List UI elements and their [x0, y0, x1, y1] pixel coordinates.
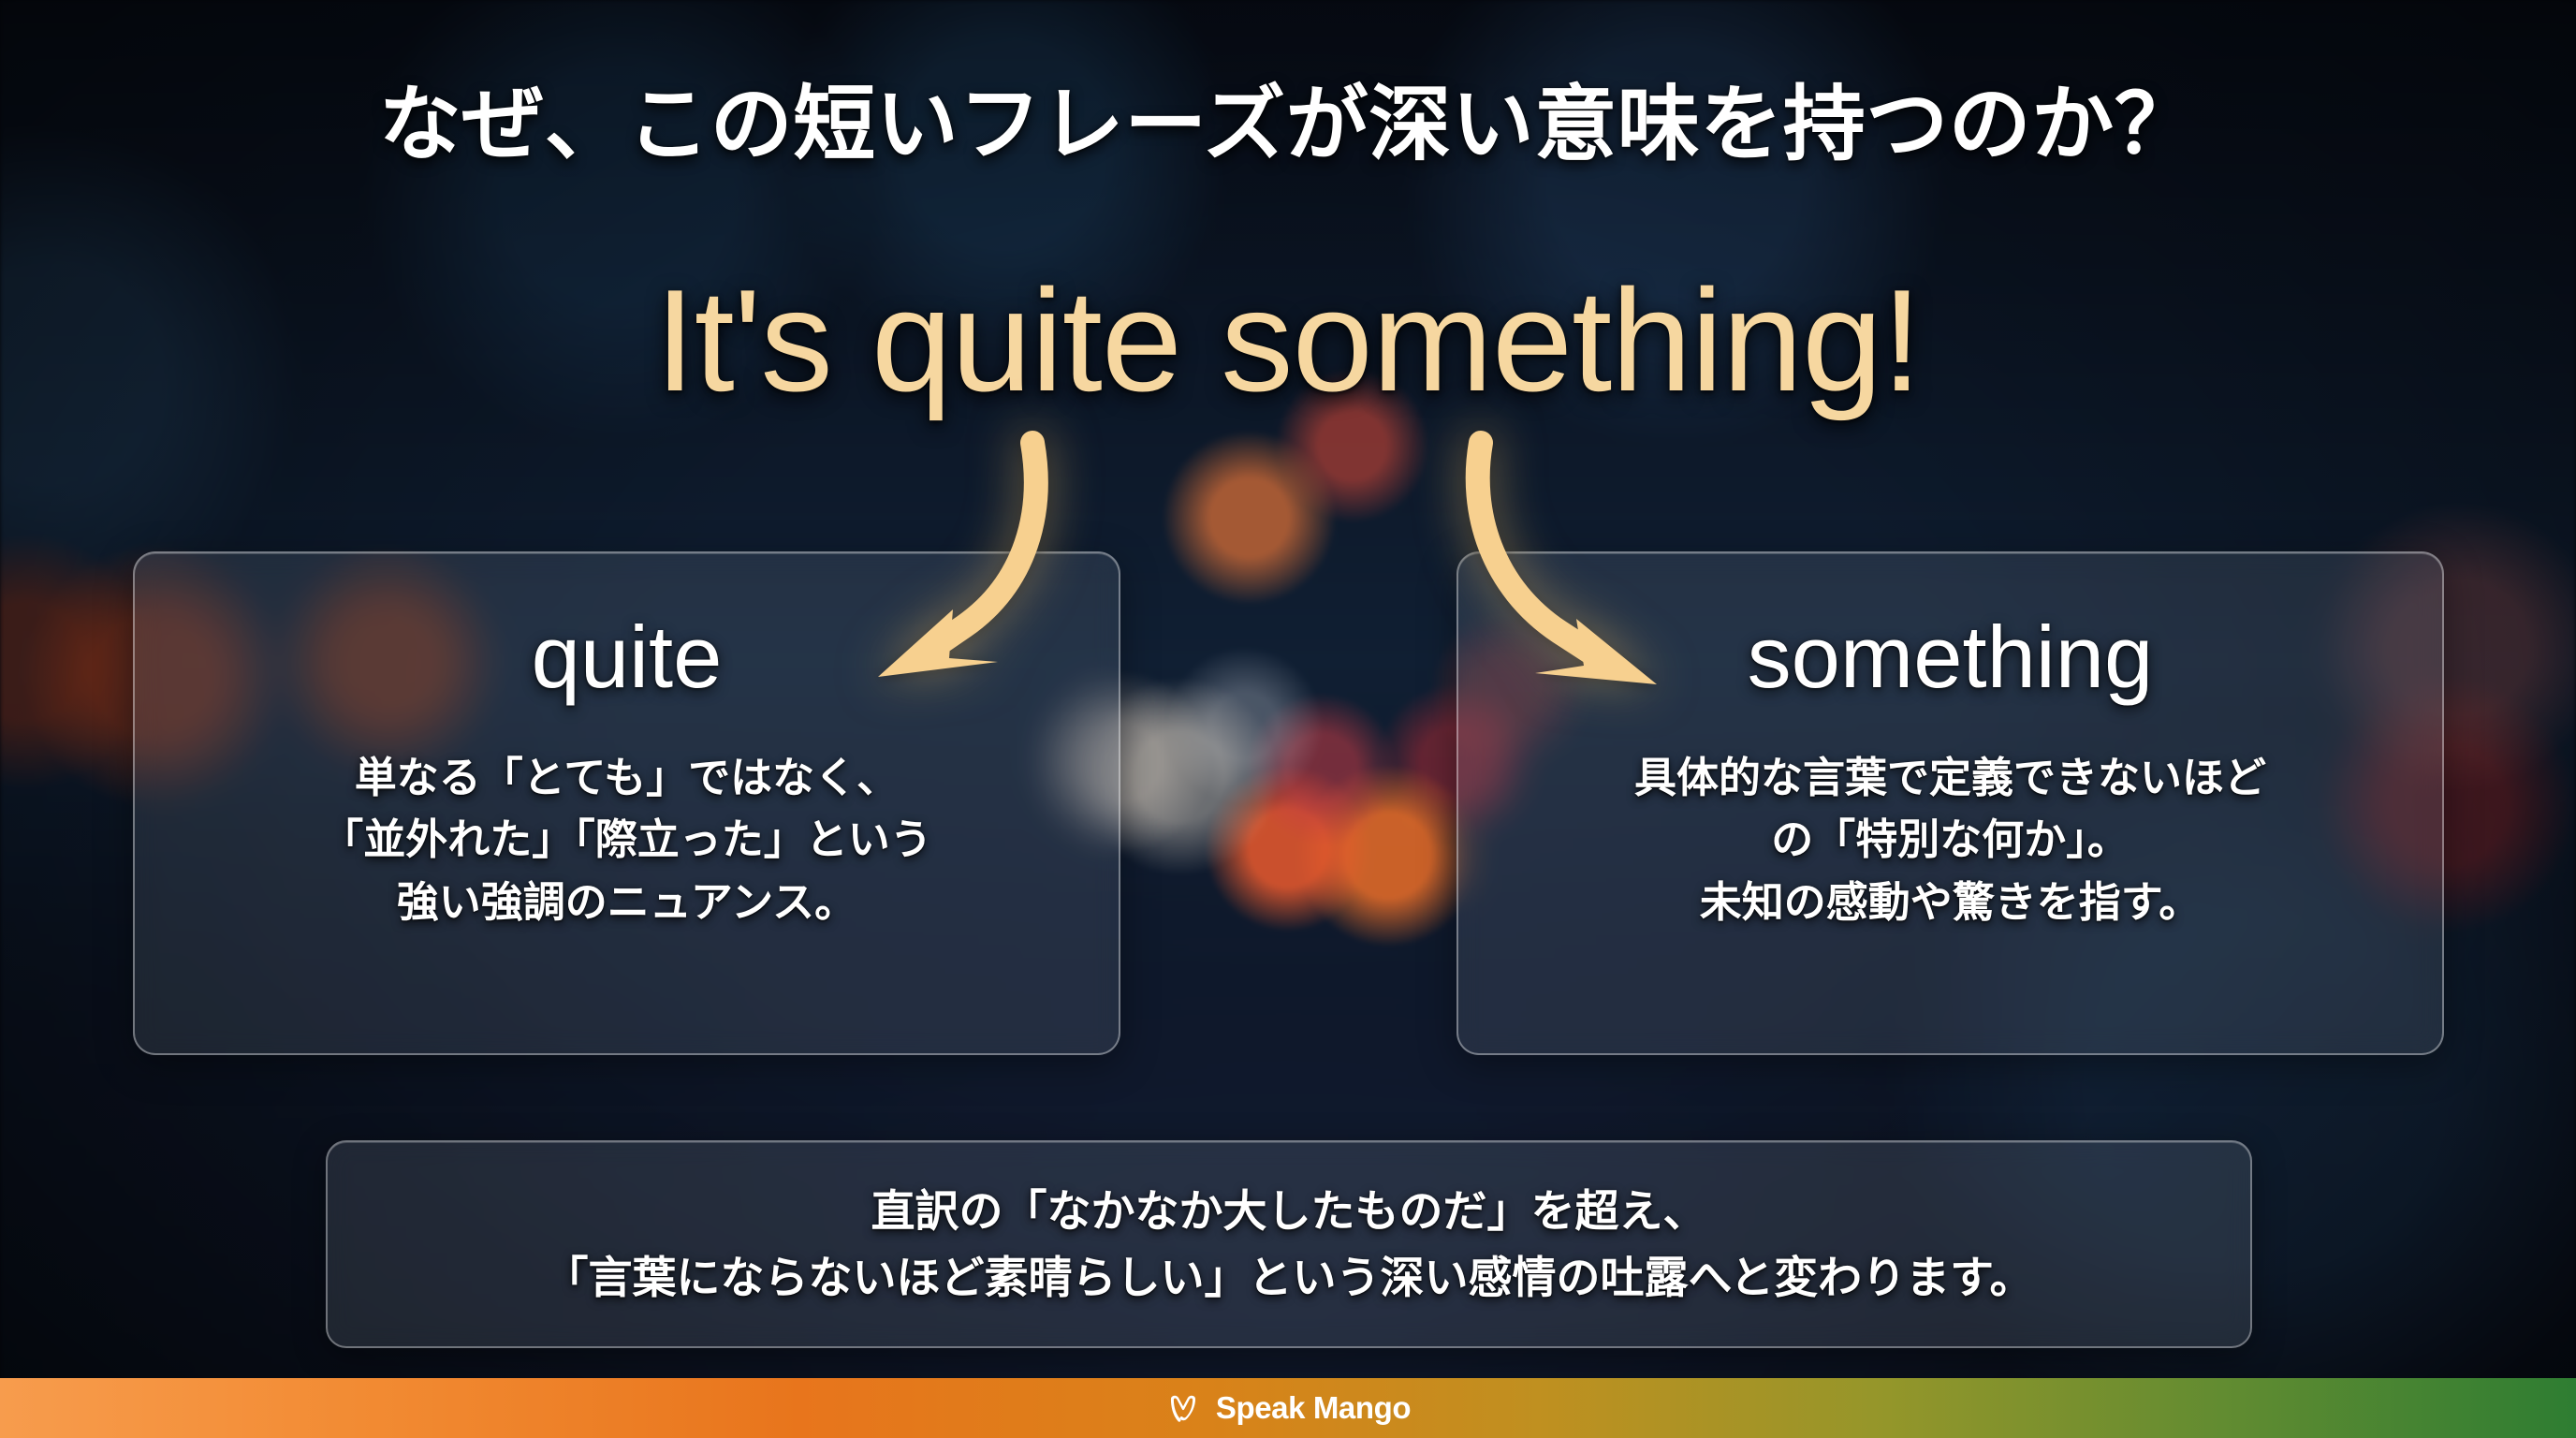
summary-line: 「言葉にならないほど素晴らしい」という深い感情の吐露へと変わります。	[545, 1244, 2034, 1311]
hero-phrase: It's quite something!	[0, 257, 2576, 424]
summary-text: 直訳の「なかなか大したものだ」を超え、 「言葉にならないほど素晴らしい」という深…	[545, 1178, 2034, 1312]
card-body-something: 具体的な言葉で定義できないほど の「特別な何か」。 未知の感動や驚きを指す。	[1608, 747, 2292, 934]
footer-brand-bar: Speak Mango	[0, 1378, 2576, 1438]
footer-brand-label: Speak Mango	[1216, 1390, 1411, 1426]
card-body-line: 未知の感動や驚きを指す。	[1634, 872, 2266, 934]
definition-card-something: something 具体的な言葉で定義できないほど の「特別な何か」。 未知の感…	[1456, 551, 2444, 1055]
slide-root: なぜ、この短いフレーズが深い意味を持つのか？ It's quite someth…	[0, 0, 2576, 1438]
definition-card-quite: quite 単なる「とても」ではなく、 「並外れた」「際立った」という 強い強調…	[133, 551, 1120, 1055]
card-body-line: の「特別な何か」。	[1634, 809, 2266, 872]
card-body-line: 単なる「とても」ではなく、	[321, 747, 932, 810]
summary-line: 直訳の「なかなか大したものだ」を超え、	[545, 1178, 2034, 1244]
summary-box: 直訳の「なかなか大したものだ」を超え、 「言葉にならないほど素晴らしい」という深…	[326, 1140, 2252, 1348]
card-body-line: 具体的な言葉で定義できないほど	[1634, 747, 2266, 810]
page-title: なぜ、この短いフレーズが深い意味を持つのか？	[0, 58, 2576, 177]
card-title-something: something	[1748, 611, 2154, 704]
mango-m-heart-logo-icon	[1165, 1390, 1201, 1426]
card-body-line: 「並外れた」「際立った」という	[321, 809, 932, 872]
card-body-line: 強い強調のニュアンス。	[321, 872, 932, 934]
card-body-quite: 単なる「とても」ではなく、 「並外れた」「際立った」という 強い強調のニュアンス…	[295, 747, 959, 934]
card-title-quite: quite	[532, 611, 723, 704]
